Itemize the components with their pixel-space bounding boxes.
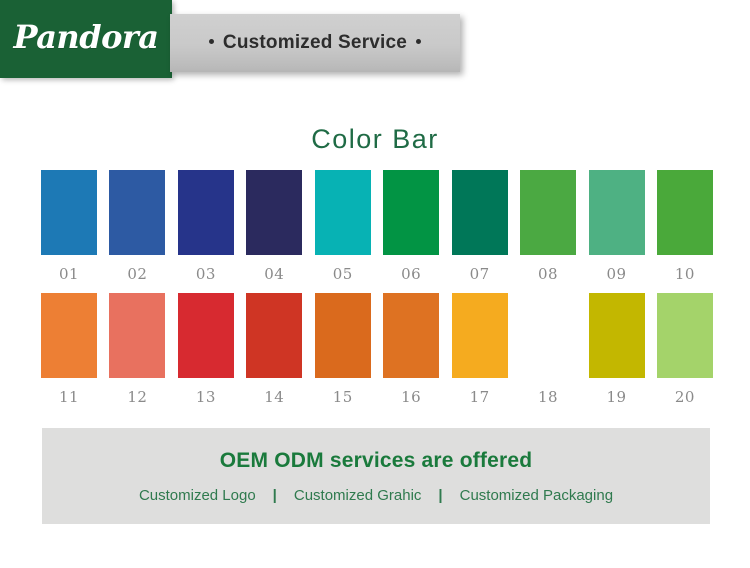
color-swatch-07[interactable]: 07 — [452, 170, 508, 283]
color-chip-09[interactable] — [589, 170, 645, 255]
footer-service-item-3: Customized Packaging — [460, 487, 613, 504]
color-label-06: 06 — [401, 265, 421, 283]
oem-odm-title: OEM ODM services are offered — [220, 449, 533, 473]
bullet-left-icon — [209, 39, 214, 44]
color-swatch-03[interactable]: 03 — [178, 170, 234, 283]
color-label-14: 14 — [264, 388, 284, 406]
color-label-07: 07 — [470, 265, 490, 283]
customized-service-tab-label: Customized Service — [200, 32, 430, 54]
color-swatch-row-2: 11121314151617181920 — [41, 293, 713, 406]
color-swatch-02[interactable]: 02 — [109, 170, 165, 283]
footer-separator: | — [438, 487, 442, 504]
color-swatch-06[interactable]: 06 — [383, 170, 439, 283]
color-chip-07[interactable] — [452, 170, 508, 255]
color-label-16: 16 — [401, 388, 421, 406]
brand-logo-text: Pandora — [13, 21, 158, 57]
footer-separator: | — [273, 487, 277, 504]
customized-service-tab[interactable]: Customized Service — [170, 14, 460, 72]
color-chip-17[interactable] — [452, 293, 508, 378]
oem-odm-service-list: Customized Logo|Customized Grahic|Custom… — [139, 487, 613, 504]
color-chip-08[interactable] — [520, 170, 576, 255]
color-chip-20[interactable] — [657, 293, 713, 378]
oem-odm-banner: OEM ODM services are offered Customized … — [42, 428, 710, 524]
color-label-20: 20 — [675, 388, 695, 406]
color-chip-19[interactable] — [589, 293, 645, 378]
page-title: Color Bar — [0, 124, 750, 155]
color-swatch-19[interactable]: 19 — [589, 293, 645, 406]
color-swatch-10[interactable]: 10 — [657, 170, 713, 283]
color-swatch-13[interactable]: 13 — [178, 293, 234, 406]
footer-service-item-2: Customized Grahic — [294, 487, 422, 504]
bullet-right-icon — [416, 39, 421, 44]
color-chip-01[interactable] — [41, 170, 97, 255]
color-swatch-05[interactable]: 05 — [315, 170, 371, 283]
color-label-08: 08 — [538, 265, 558, 283]
color-label-02: 02 — [127, 265, 147, 283]
color-label-15: 15 — [333, 388, 353, 406]
color-label-09: 09 — [606, 265, 626, 283]
color-swatch-20[interactable]: 20 — [657, 293, 713, 406]
color-swatch-11[interactable]: 11 — [41, 293, 97, 406]
color-swatch-18[interactable]: 18 — [520, 293, 576, 406]
color-label-04: 04 — [264, 265, 284, 283]
color-chip-02[interactable] — [109, 170, 165, 255]
color-chip-11[interactable] — [41, 293, 97, 378]
color-swatch-14[interactable]: 14 — [246, 293, 302, 406]
color-chip-05[interactable] — [315, 170, 371, 255]
color-chip-13[interactable] — [178, 293, 234, 378]
color-label-01: 01 — [59, 265, 79, 283]
color-swatch-15[interactable]: 15 — [315, 293, 371, 406]
color-swatch-12[interactable]: 12 — [109, 293, 165, 406]
color-chip-06[interactable] — [383, 170, 439, 255]
color-swatch-16[interactable]: 16 — [383, 293, 439, 406]
color-label-10: 10 — [675, 265, 695, 283]
color-swatch-04[interactable]: 04 — [246, 170, 302, 283]
brand-logo-block[interactable]: Pandora — [0, 0, 172, 78]
color-label-03: 03 — [196, 265, 216, 283]
color-label-18: 18 — [538, 388, 558, 406]
color-label-11: 11 — [59, 388, 79, 406]
color-chip-03[interactable] — [178, 170, 234, 255]
color-swatch-08[interactable]: 08 — [520, 170, 576, 283]
color-chip-15[interactable] — [315, 293, 371, 378]
tab-label-text: Customized Service — [223, 32, 407, 53]
color-swatch-17[interactable]: 17 — [452, 293, 508, 406]
color-label-05: 05 — [333, 265, 353, 283]
color-label-17: 17 — [470, 388, 490, 406]
color-label-13: 13 — [196, 388, 216, 406]
color-swatch-row-1: 01020304050607080910 — [41, 170, 713, 283]
page-header: Pandora Customized Service — [0, 0, 750, 90]
color-label-12: 12 — [127, 388, 147, 406]
color-chip-18[interactable] — [520, 293, 576, 378]
color-chip-12[interactable] — [109, 293, 165, 378]
color-chip-04[interactable] — [246, 170, 302, 255]
color-chip-10[interactable] — [657, 170, 713, 255]
color-chip-14[interactable] — [246, 293, 302, 378]
color-chip-16[interactable] — [383, 293, 439, 378]
color-swatch-09[interactable]: 09 — [589, 170, 645, 283]
color-label-19: 19 — [606, 388, 626, 406]
color-swatch-01[interactable]: 01 — [41, 170, 97, 283]
footer-service-item-1: Customized Logo — [139, 487, 256, 504]
